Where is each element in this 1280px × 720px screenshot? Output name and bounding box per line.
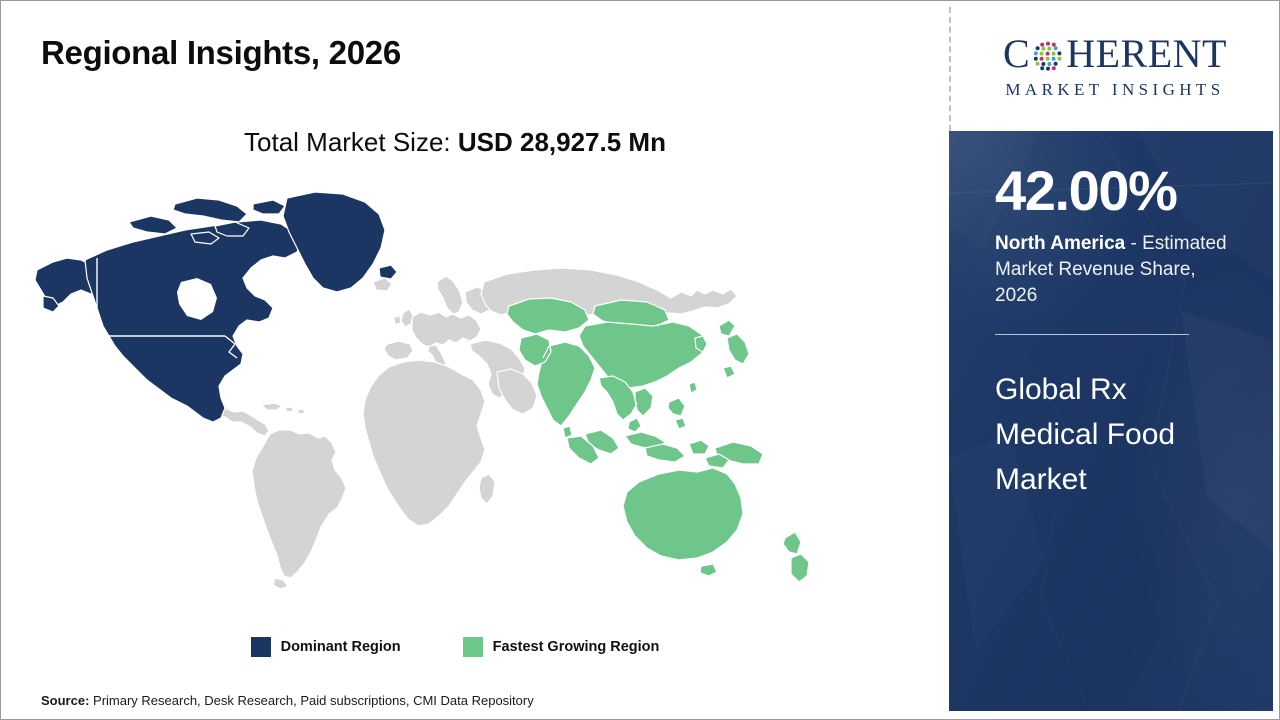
world-map-svg <box>29 186 849 616</box>
source-label: Source: <box>41 693 89 708</box>
legend-item-dominant: Dominant Region <box>251 637 401 657</box>
logo-tagline: MARKET INSIGHTS <box>1005 80 1224 100</box>
legend-swatch-green-icon <box>463 637 483 657</box>
source-note: Source: Primary Research, Desk Research,… <box>41 693 534 708</box>
stat-panel: 42.00% North America - Estimated Market … <box>949 131 1273 711</box>
globe-dots-icon <box>1031 39 1065 73</box>
legend-item-fastest-growing: Fastest Growing Region <box>463 637 660 657</box>
stat-region-name: North America <box>995 233 1125 254</box>
stat-caption: North America - Estimated Market Revenue… <box>995 231 1227 310</box>
logo-letter-c: C <box>1003 34 1030 74</box>
source-text: Primary Research, Desk Research, Paid su… <box>89 693 533 708</box>
total-market-size-label: Total Market Size: <box>244 127 458 157</box>
map-region-asia-pacific <box>507 298 809 582</box>
map-legend: Dominant Region Fastest Growing Region <box>1 637 909 657</box>
legend-swatch-navy-icon <box>251 637 271 657</box>
left-content-pane: Regional Insights, 2026 Total Market Siz… <box>1 1 949 719</box>
stat-divider-rule <box>995 334 1189 335</box>
stat-percentage-value: 42.00% <box>995 163 1227 219</box>
map-region-north-america <box>35 192 397 422</box>
total-market-size: Total Market Size: USD 28,927.5 Mn <box>1 127 909 158</box>
globe-dots-svg <box>1031 39 1065 73</box>
legend-label-dominant: Dominant Region <box>281 639 401 655</box>
infographic-root: Regional Insights, 2026 Total Market Siz… <box>0 0 1280 720</box>
vertical-dashed-divider <box>949 7 951 131</box>
logo-wordmark: C <box>1003 34 1227 74</box>
logo-letters-herent: HERENT <box>1066 34 1227 74</box>
market-name: Global Rx Medical Food Market <box>995 367 1227 502</box>
legend-label-fastest-growing: Fastest Growing Region <box>493 639 660 655</box>
total-market-size-value: USD 28,927.5 Mn <box>458 127 666 157</box>
page-title: Regional Insights, 2026 <box>41 34 401 72</box>
coherent-market-insights-logo: C <box>959 19 1271 115</box>
world-map <box>29 186 849 616</box>
